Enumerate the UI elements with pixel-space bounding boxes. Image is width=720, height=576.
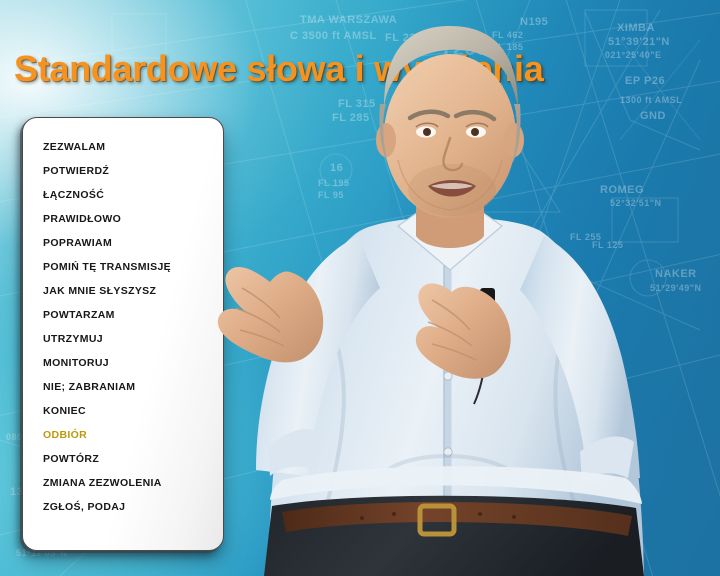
background-chart-label: FL 225 — [385, 32, 423, 44]
phrase-list-item[interactable]: POTWIERDŹ — [23, 159, 223, 183]
background-chart-label: ROMEG — [600, 184, 644, 196]
background-chart-label: 16 — [330, 162, 343, 174]
background-chart-label: 21 — [378, 122, 408, 153]
background-chart-label: 51°29'49"N — [650, 283, 702, 293]
background-chart-label: FL 285 — [332, 112, 370, 124]
background-chart-label: N195 — [520, 16, 548, 28]
slide-canvas: TMA WARSZAWAC 3500 ft AMSLFL 225T266°FL … — [0, 0, 720, 576]
phrase-list-item[interactable]: POPRAWIAM — [23, 231, 223, 255]
phrase-card[interactable]: ZEZWALAMPOTWIERDŹŁĄCZNOŚĆPRAWIDŁOWOPOPRA… — [22, 117, 224, 551]
background-chart-label: FL 462 — [492, 30, 523, 40]
phrase-list-item[interactable]: KONIEC — [23, 399, 223, 423]
background-chart-label: GND — [640, 110, 666, 122]
phrase-list-item[interactable]: ZGŁOŚ, PODAJ — [23, 495, 223, 519]
phrase-list-item[interactable]: PRAWIDŁOWO — [23, 207, 223, 231]
page-title: Standardowe słowa i wyrażenia — [14, 48, 543, 90]
background-chart-label: FL 95 — [318, 190, 344, 200]
background-chart-label: 51°39'21"N — [608, 36, 670, 48]
phrase-list-item[interactable]: ŁĄCZNOŚĆ — [23, 183, 223, 207]
background-chart-label: C 3500 ft AMSL — [290, 30, 377, 42]
phrase-list-item[interactable]: MONITORUJ — [23, 351, 223, 375]
phrase-list-item[interactable]: ZMIANA ZEZWOLENIA — [23, 471, 223, 495]
phrase-list-item[interactable]: JAK MNIE SŁYSZYSZ — [23, 279, 223, 303]
background-chart-label: 52°32'51"N — [610, 198, 662, 208]
phrase-list-item[interactable]: POWTARZAM — [23, 303, 223, 327]
background-chart-label: FL 125 — [592, 240, 623, 250]
background-chart-label: 021°25'40"E — [605, 50, 662, 60]
phrase-list-item[interactable]: POWTÓRZ — [23, 447, 223, 471]
phrase-list-item[interactable]: POMIŃ TĘ TRANSMISJĘ — [23, 255, 223, 279]
background-chart-label: TMA WARSZAWA — [300, 14, 397, 26]
background-chart-label: 1300 ft AMSL — [620, 95, 682, 105]
background-chart-label: XIMBA — [617, 22, 655, 34]
background-chart-label: NAKER — [655, 268, 697, 280]
phrase-list-item[interactable]: ZEZWALAM — [23, 135, 223, 159]
background-chart-label: 080 — [6, 432, 23, 442]
phrase-list-item[interactable]: NIE; ZABRANIAM — [23, 375, 223, 399]
phrase-list-item[interactable]: UTRZYMUJ — [23, 327, 223, 351]
phrase-list: ZEZWALAMPOTWIERDŹŁĄCZNOŚĆPRAWIDŁOWOPOPRA… — [23, 118, 223, 519]
background-chart-label: EP P26 — [625, 75, 665, 87]
background-chart-label: FL 195 — [318, 178, 349, 188]
phrase-list-item[interactable]: ODBIÓR — [23, 423, 223, 447]
background-chart-label: FL 315 — [338, 98, 376, 110]
